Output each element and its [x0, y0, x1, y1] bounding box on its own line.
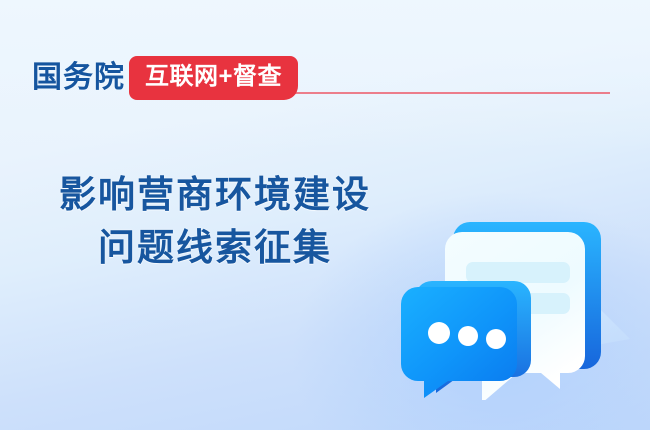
banner-root: 国务院 互联网+督查 影响营商环境建设 问题线索征集 — [0, 0, 650, 430]
message-bubble-blue — [401, 281, 531, 398]
typing-dot-1 — [428, 322, 450, 344]
organization-name: 国务院 — [32, 63, 125, 93]
page-title: 影响营商环境建设 问题线索征集 — [0, 168, 430, 274]
campaign-badge: 互联网+督查 — [129, 56, 298, 100]
speech-bubbles-illustration — [390, 205, 640, 400]
typing-dot-2 — [458, 326, 478, 346]
page-title-line-1: 影响营商环境建设 — [0, 168, 430, 221]
page-title-line-2: 问题线索征集 — [0, 221, 430, 274]
typing-dot-3 — [486, 329, 506, 349]
header: 国务院 互联网+督查 — [32, 56, 298, 100]
header-divider-rule — [288, 92, 610, 94]
bubble-line-1 — [466, 262, 570, 283]
